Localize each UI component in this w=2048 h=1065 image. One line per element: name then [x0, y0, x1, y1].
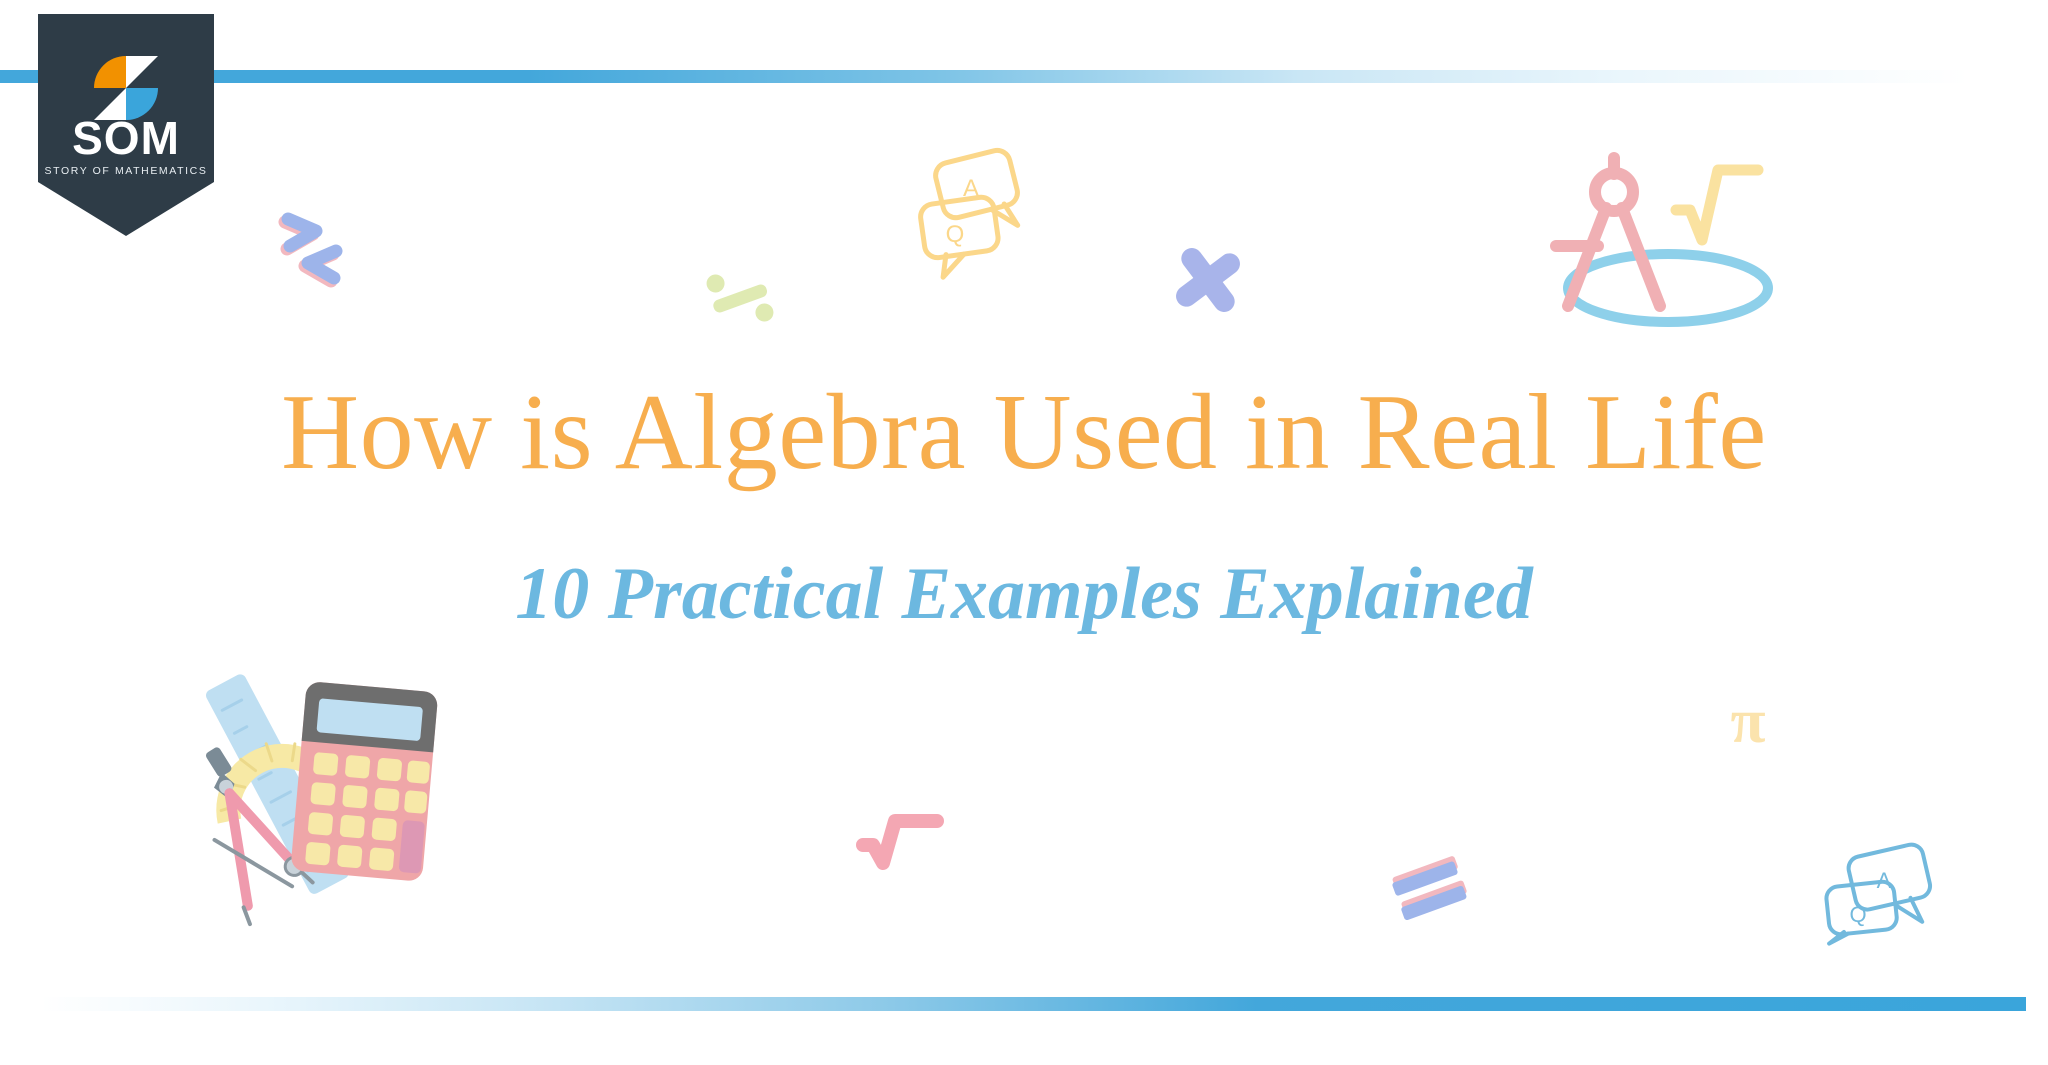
logo-tagline: STORY OF MATHEMATICS — [45, 165, 208, 177]
subtitle-container: 10 Practical Examples Explained — [0, 554, 2048, 635]
square-root-icon — [855, 805, 945, 875]
qa-speech-bubbles-icon: A Q — [915, 140, 1035, 270]
svg-text:Q: Q — [1849, 902, 1866, 927]
greater-less-than-icon — [278, 205, 358, 295]
bottom-accent-bar — [0, 997, 2026, 1011]
svg-text:A: A — [963, 175, 979, 202]
svg-text:π: π — [1730, 685, 1765, 756]
compass-square-root-icon — [1550, 148, 1780, 338]
math-tools-illustration — [180, 658, 470, 948]
som-shield-logo[interactable]: SOM STORY OF MATHEMATICS — [38, 14, 214, 236]
title-container: How is Algebra Used in Real Life — [0, 376, 2048, 490]
top-accent-bar — [0, 70, 2030, 83]
division-sign-icon — [700, 258, 780, 338]
svg-text:Q: Q — [946, 221, 965, 248]
qa-speech-bubbles-blue-icon: A Q — [1818, 840, 1953, 950]
presentation-slide: SOM STORY OF MATHEMATICS — [0, 0, 2048, 1065]
logo-acronym: SOM — [72, 112, 180, 164]
svg-text:A: A — [1877, 868, 1892, 893]
page-subtitle: 10 Practical Examples Explained — [0, 554, 2048, 635]
equals-sign-icon — [1387, 852, 1477, 932]
multiplication-sign-icon — [1173, 245, 1243, 315]
page-title: How is Algebra Used in Real Life — [0, 376, 2048, 490]
pi-symbol-icon: π — [1713, 680, 1783, 760]
